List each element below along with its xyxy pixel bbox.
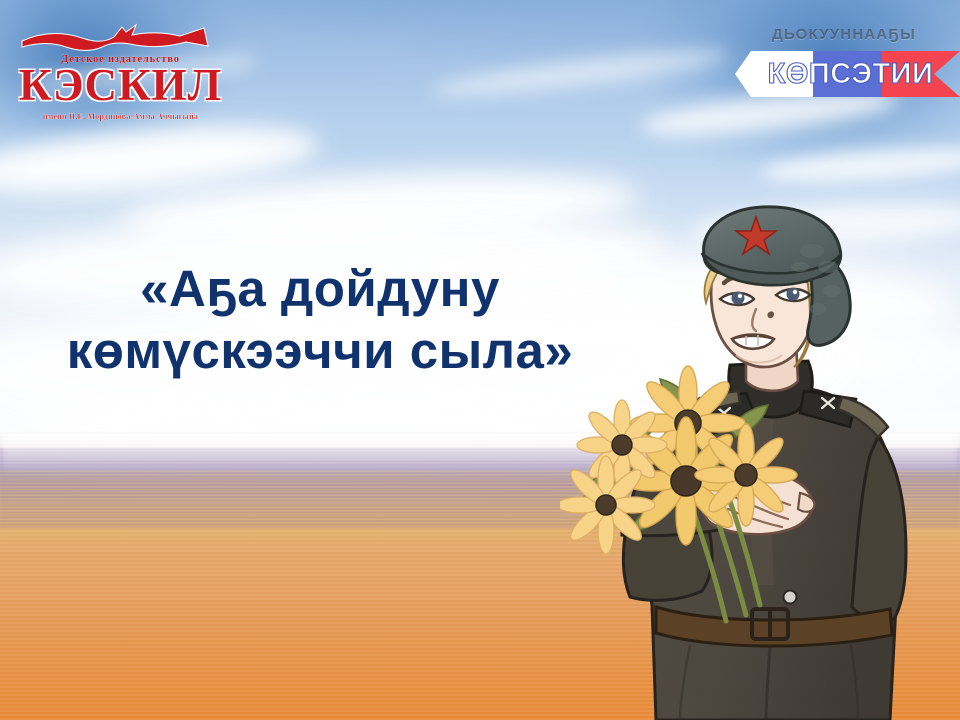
flower-bloom (695, 424, 797, 526)
project-banner[interactable]: ДЬОКУУННААҔЫ КӨПСЭТИИ (725, 26, 960, 106)
banner-top-label: ДЬОКУУННААҔЫ (731, 26, 957, 43)
soldier-with-flowers (560, 205, 960, 720)
flower-bloom (560, 456, 655, 554)
logo-attribution: имени Н.Е. Мординова-Амма Аччыгыйа (18, 112, 223, 121)
flower-bloom (577, 400, 667, 490)
coat-button (784, 591, 797, 604)
red-fish-swoosh-icon (18, 18, 223, 54)
ribbon-label: КӨПСЭТИИ (735, 51, 960, 97)
page-title: «Аҕа дойдуну көмүскээччи сыла» (40, 258, 600, 382)
presentation-slide: Детское издательство КЭСКИЛ имени Н.Е. М… (0, 0, 960, 720)
keskil-logo[interactable]: Детское издательство КЭСКИЛ имени Н.Е. М… (18, 18, 223, 130)
logo-wordmark: КЭСКИЛ (18, 63, 223, 108)
